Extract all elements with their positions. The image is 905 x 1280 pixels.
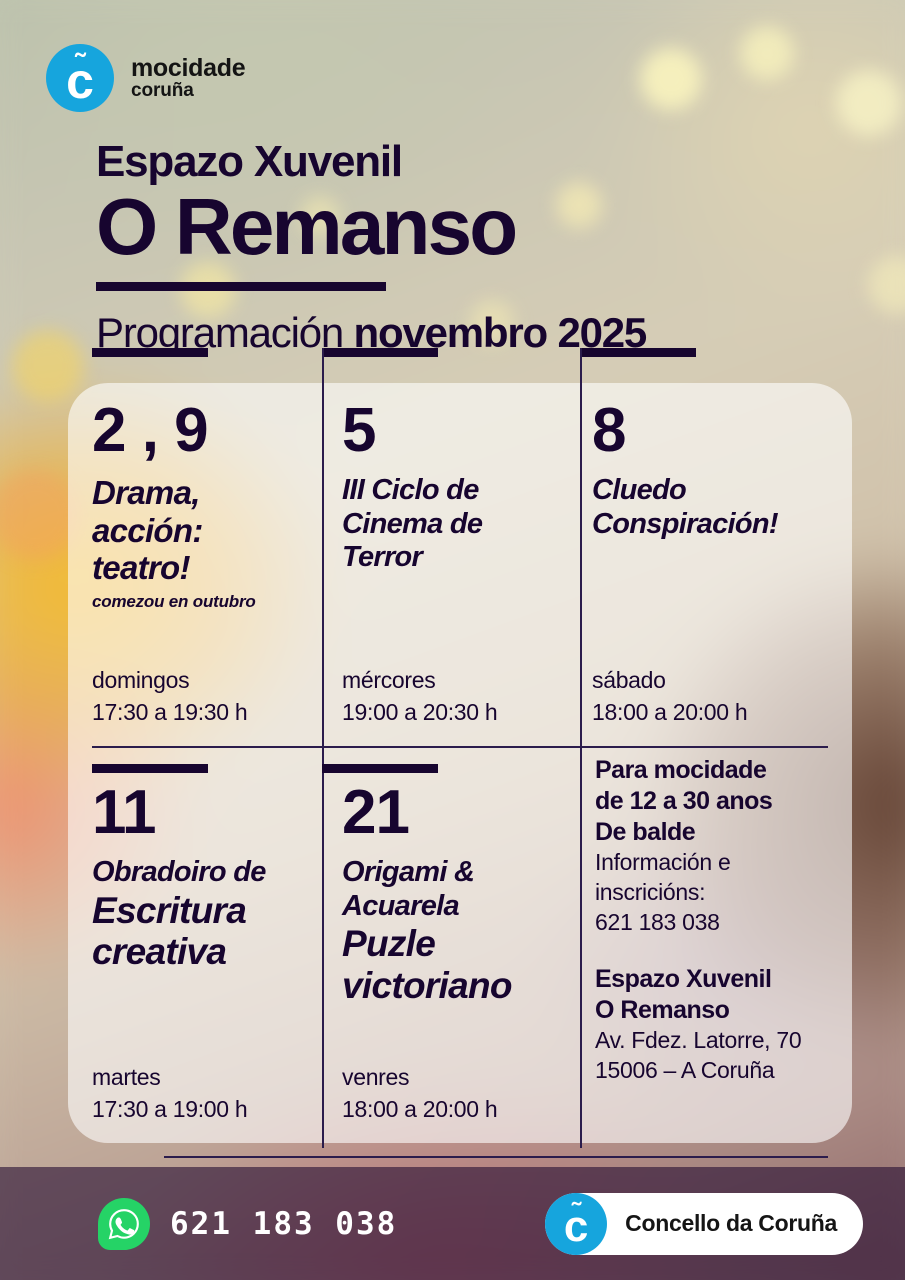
whatsapp-phone-number[interactable]: 621 183 038 — [170, 1206, 397, 1242]
info-column: Para mocidade de 12 a 30 anos De balde I… — [595, 755, 845, 1085]
audience-line-1: Para mocidade — [595, 755, 845, 786]
title-underline-rule — [96, 282, 386, 291]
event-card[interactable]: 11 Obradoiro de Escritura creativa marte… — [92, 782, 307, 973]
column-divider — [322, 348, 324, 1148]
column-cap-bar — [322, 348, 438, 357]
event-day: 2 , 9 — [92, 400, 292, 462]
concello-label: Concello da Coruña — [625, 1210, 837, 1237]
column-cap-bar — [92, 764, 208, 773]
mocidade-logo: ˜ c mocidade coruña — [46, 44, 245, 112]
column-cap-bar — [92, 348, 208, 357]
event-card[interactable]: 21 Origami & Acuarela Puzle victoriano v… — [342, 782, 557, 1006]
concello-c-tilde-icon: ˜ c — [545, 1193, 607, 1255]
event-time: 17:30 a 19:30 h — [92, 697, 247, 729]
event-card[interactable]: 5 III Ciclo de Cinema de Terror mércores… — [342, 400, 542, 575]
info-spacer — [595, 938, 845, 964]
event-schedule: martes 17:30 a 19:00 h — [92, 1062, 247, 1125]
event-schedule: mércores 19:00 a 20:30 h — [342, 665, 497, 728]
contact-label-line-2: inscricións: — [595, 878, 845, 908]
event-title: Puzle victoriano — [342, 923, 557, 1006]
column-divider — [580, 348, 582, 1148]
event-schedule: venres 18:00 a 20:00 h — [342, 1062, 497, 1125]
address-line-1: Av. Fdez. Latorre, 70 — [595, 1026, 845, 1056]
event-title: Cluedo Conspiración! — [592, 474, 828, 541]
poster-root: ˜ c mocidade coruña Espazo Xuvenil O Rem… — [0, 0, 905, 1280]
address-line-2: 15006 – A Coruña — [595, 1056, 845, 1086]
c-glyph: c — [564, 1205, 588, 1249]
event-title: III Ciclo de Cinema de Terror — [342, 474, 542, 575]
event-schedule: domingos 17:30 a 19:30 h — [92, 665, 247, 728]
event-title: Drama, acción: teatro! — [92, 474, 292, 587]
event-day: 5 — [342, 400, 542, 462]
contact-label-line-1: Información e — [595, 848, 845, 878]
event-card[interactable]: 8 Cluedo Conspiración! sábado 18:00 a 20… — [592, 400, 828, 541]
page-title: O Remanso — [96, 188, 856, 266]
whatsapp-contact[interactable]: 621 183 038 — [98, 1198, 397, 1250]
venue-line-2: O Remanso — [595, 995, 845, 1026]
concello-badge[interactable]: ˜ c Concello da Coruña — [545, 1193, 863, 1255]
grid-bottom-rule — [164, 1156, 828, 1158]
brand-wordmark: mocidade coruña — [131, 55, 245, 101]
event-card[interactable]: 2 , 9 Drama, acción: teatro! comezou en … — [92, 400, 292, 612]
price-label: De balde — [595, 817, 845, 848]
poster-footer: 621 183 038 ˜ c Concello da Coruña — [0, 1167, 905, 1280]
event-day: 11 — [92, 782, 307, 844]
event-day: 21 — [342, 782, 557, 844]
event-weekday: domingos — [92, 665, 247, 697]
event-weekday: venres — [342, 1062, 497, 1094]
audience-line-2: de 12 a 30 anos — [595, 786, 845, 817]
event-note: comezou en outubro — [92, 592, 292, 612]
pretitle: Espazo Xuvenil — [96, 140, 856, 184]
venue-line-1: Espazo Xuvenil — [595, 964, 845, 995]
event-schedule: sábado 18:00 a 20:00 h — [592, 665, 747, 728]
c-glyph: c — [66, 56, 94, 106]
brand-name-line2: coruña — [131, 81, 245, 101]
event-time: 17:30 a 19:00 h — [92, 1094, 247, 1126]
event-time: 18:00 a 20:00 h — [342, 1094, 497, 1126]
event-weekday: mércores — [342, 665, 497, 697]
title-block: Espazo Xuvenil O Remanso Programación no… — [96, 140, 856, 354]
whatsapp-icon[interactable] — [98, 1198, 150, 1250]
row-divider — [92, 746, 828, 748]
brand-name-line1: mocidade — [131, 55, 245, 81]
event-time: 19:00 a 20:30 h — [342, 697, 497, 729]
event-time: 18:00 a 20:00 h — [592, 697, 747, 729]
event-title-small: Origami & Acuarela — [342, 856, 557, 923]
event-day: 8 — [592, 400, 828, 462]
event-weekday: sábado — [592, 665, 747, 697]
column-cap-bar — [322, 764, 438, 773]
event-title: Escritura creativa — [92, 890, 307, 973]
contact-phone[interactable]: 621 183 038 — [595, 908, 845, 938]
event-weekday: martes — [92, 1062, 247, 1094]
event-title-small: Obradoiro de — [92, 856, 307, 890]
c-tilde-icon: ˜ c — [46, 44, 114, 112]
column-cap-bar — [580, 348, 696, 357]
